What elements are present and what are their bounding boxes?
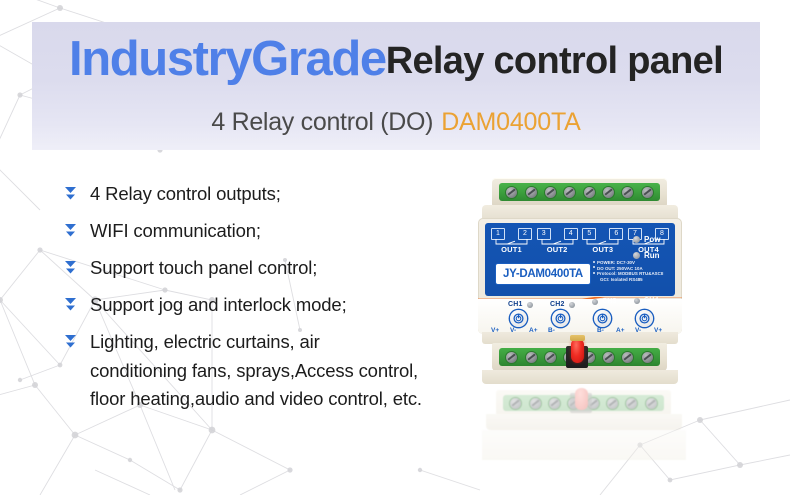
output-group: 3 4 OUT2 [537, 228, 578, 254]
bottom-terminal-housing [492, 343, 667, 371]
double-chevron-down-icon [63, 183, 78, 205]
list-item: Support touch panel control; [63, 254, 483, 282]
terminal-screw [526, 187, 537, 198]
terminal-screw [622, 187, 633, 198]
page-title: IndustryGrade Relay control panel [32, 28, 760, 90]
led-indicator-icon [527, 302, 533, 308]
channel-label: CH4 [644, 297, 659, 304]
power-icon [555, 313, 566, 324]
output-label: OUT1 [491, 245, 532, 254]
list-item-label: Support touch panel control; [90, 254, 317, 282]
list-item-label-line1: Lighting, electric curtains, air [90, 331, 320, 352]
terminal-screw [506, 352, 517, 363]
list-item-label: Support jog and interlock mode; [90, 291, 347, 319]
red-indicator-lamp [571, 339, 584, 363]
status-led-label: Pow [644, 235, 660, 244]
touch-button-ch1[interactable] [510, 310, 527, 327]
terminal-screw [584, 187, 595, 198]
led-indicator-icon [634, 298, 640, 304]
channel-label: CH3 [602, 298, 617, 305]
model-badge: JY-DAM0400TA [495, 263, 591, 285]
status-led-label: Run [644, 251, 660, 260]
terminal-screw [603, 352, 614, 363]
channel-label: CH1 [508, 301, 523, 308]
list-item: Support jog and interlock mode; [63, 291, 483, 319]
status-led-run: Run [633, 251, 660, 260]
spec-line: GCI: Isolated RS485 [593, 277, 673, 283]
channel-indicator-ch4: CH4 [634, 297, 659, 304]
led-indicator-icon [592, 299, 598, 305]
product-image: 1 2 OUT1 3 4 [478, 178, 718, 448]
led-indicator-icon [633, 236, 640, 243]
led-indicator-icon [633, 252, 640, 259]
list-item-label-line2: conditioning fans, sprays,Access control… [90, 357, 422, 385]
terminal-screw [603, 187, 614, 198]
channel-label-row: CH1 CH2 CH3 CH4 [488, 301, 674, 310]
output-label: OUT3 [582, 245, 623, 254]
channel-indicator-ch2: CH2 [550, 301, 575, 308]
power-icon [597, 313, 608, 324]
output-group: 1 2 OUT1 [491, 228, 532, 254]
list-item-label: WIFI communication; [90, 217, 261, 245]
spec-text: Protocol: MODBUS RTU&ASCII [597, 271, 663, 276]
terminal-screw [506, 187, 517, 198]
touch-button-ch4[interactable] [636, 310, 653, 327]
double-chevron-down-icon [63, 294, 78, 316]
list-item-label-line3: floor heating,audio and video control, e… [90, 385, 422, 413]
touch-button-ch3[interactable] [594, 310, 611, 327]
product-image-reflection [496, 390, 686, 460]
output-label: OUT2 [537, 245, 578, 254]
double-chevron-down-icon [63, 257, 78, 279]
terminal-screw [622, 352, 633, 363]
device-bottom-skirt [482, 370, 678, 384]
subtitle-model: DAM0400TA [441, 108, 580, 137]
feature-list: 4 Relay control outputs; WIFI communicat… [63, 180, 483, 422]
banner-stage: IndustryGrade Relay control panel 4 Rela… [0, 0, 790, 495]
list-item: 4 Relay control outputs; [63, 180, 483, 208]
led-indicator-icon [569, 302, 575, 308]
spec-text: POWER: DC7-30V [597, 260, 635, 265]
device-blue-label: 1 2 OUT1 3 4 [485, 223, 675, 296]
terminal-screw [564, 187, 575, 198]
list-item: Lighting, electric curtains, air conditi… [63, 328, 483, 412]
channel-indicator-ch3: CH3 [592, 298, 617, 305]
top-terminal-housing [492, 178, 667, 206]
top-terminal-block [499, 183, 660, 201]
touch-button-row [488, 310, 674, 327]
list-item-label: Lighting, electric curtains, air conditi… [90, 328, 422, 412]
power-icon [639, 313, 650, 324]
channel-label: CH2 [550, 301, 565, 308]
terminal-screw [545, 187, 556, 198]
list-item: WIFI communication; [63, 217, 483, 245]
page-subtitle: 4 Relay control (DO) DAM0400TA [32, 105, 760, 139]
terminal-screw [642, 352, 653, 363]
power-icon [513, 313, 524, 324]
terminal-screw [526, 352, 537, 363]
title-secondary: Relay control panel [386, 42, 723, 80]
device-front-face: 1 2 OUT1 3 4 [478, 218, 682, 334]
status-led-group: Pow Run [633, 235, 660, 267]
terminal-screw [545, 352, 556, 363]
device-body: 1 2 OUT1 3 4 [478, 178, 693, 368]
model-badge-label: JY-DAM0400TA [503, 268, 583, 280]
status-led-pow: Pow [633, 235, 660, 244]
device-control-strip: CH1 CH2 CH3 CH4 [478, 299, 682, 334]
double-chevron-down-icon [63, 220, 78, 242]
list-item-label: 4 Relay control outputs; [90, 180, 281, 208]
channel-indicator-ch1: CH1 [508, 301, 533, 308]
subtitle-prefix: 4 Relay control (DO) [211, 108, 433, 137]
terminal-screw [642, 187, 653, 198]
touch-button-ch2[interactable] [552, 310, 569, 327]
double-chevron-down-icon [63, 331, 78, 353]
output-group: 5 6 OUT3 [582, 228, 623, 254]
spec-text: GCI: Isolated RS485 [600, 277, 643, 282]
title-primary: IndustryGrade [69, 35, 386, 84]
